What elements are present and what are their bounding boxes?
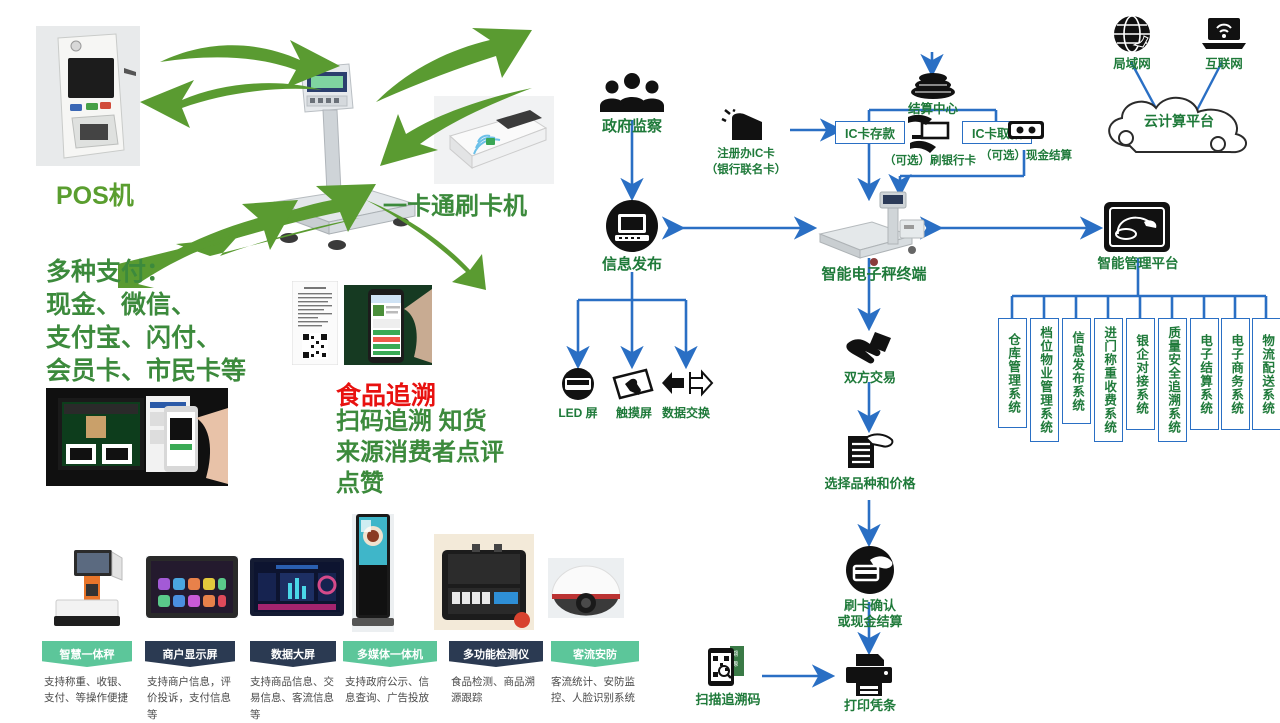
system-label-4: 银企对接系统 bbox=[1134, 334, 1147, 415]
touch-screen-icon bbox=[612, 368, 654, 400]
system-box-1[interactable]: 档位物业管理系统 bbox=[1030, 318, 1059, 442]
card-swipe-icon bbox=[846, 546, 894, 594]
cloud-platform-label: 云计算平台 bbox=[1120, 113, 1238, 130]
system-label-5: 质量安全追溯系统 bbox=[1166, 326, 1179, 434]
swipe-bank-card-label: （可选）刷银行卡 bbox=[874, 155, 986, 169]
ic-deposit-box[interactable]: IC卡存款 bbox=[835, 121, 905, 144]
card-swipe-label: 刷卡确认 或现金结算 bbox=[812, 598, 928, 629]
system-box-7[interactable]: 电子商务系统 bbox=[1221, 318, 1250, 430]
register-ic-card-label: 注册办IC卡 bbox=[700, 148, 792, 162]
cash-settlement-icon bbox=[1006, 115, 1046, 145]
smart-scale-terminal-icon bbox=[816, 192, 936, 270]
select-list-label: 选择品种和价格 bbox=[806, 476, 934, 492]
lan-label: 局域网 bbox=[1098, 57, 1166, 72]
gov-supervision-label: 政府监察 bbox=[582, 118, 682, 136]
system-label-1: 档位物业管理系统 bbox=[1038, 326, 1051, 434]
handshake-label: 双方交易 bbox=[820, 370, 920, 386]
management-platform-icon bbox=[1104, 202, 1170, 252]
cash-settlement-label: （可选）现金结算 bbox=[972, 150, 1080, 164]
internet-label: 互联网 bbox=[1190, 57, 1258, 72]
register-ic-card-sub: （银行联名卡） bbox=[698, 164, 794, 178]
system-box-4[interactable]: 银企对接系统 bbox=[1126, 318, 1155, 430]
system-box-0[interactable]: 仓库管理系统 bbox=[998, 318, 1027, 428]
ic-deposit-label: IC卡存款 bbox=[845, 123, 895, 142]
data-exchange-icon bbox=[662, 368, 712, 398]
government-people-icon bbox=[600, 72, 664, 114]
scan-trace-code-icon: 溯源 bbox=[706, 644, 750, 688]
led-screen-label: LED 屏 bbox=[548, 406, 608, 420]
swipe-bank-card-icon bbox=[906, 113, 952, 153]
internet-laptop-icon bbox=[1202, 16, 1246, 52]
select-list-icon bbox=[846, 432, 894, 470]
settlement-center-coins-icon bbox=[910, 72, 956, 100]
system-box-6[interactable]: 电子结算系统 bbox=[1190, 318, 1219, 430]
system-label-3: 进门称重收费系统 bbox=[1102, 326, 1115, 434]
printer-label: 打印凭条 bbox=[824, 698, 916, 714]
info-publish-monitor-icon bbox=[606, 200, 658, 252]
data-exchange-label: 数据交换 bbox=[652, 406, 720, 420]
management-platform-label: 智能管理平台 bbox=[1082, 256, 1194, 272]
system-box-2[interactable]: 信息发布系统 bbox=[1062, 318, 1091, 424]
system-label-2: 信息发布系统 bbox=[1070, 331, 1083, 412]
system-label-0: 仓库管理系统 bbox=[1006, 333, 1019, 414]
system-box-8[interactable]: 物流配送系统 bbox=[1252, 318, 1280, 430]
printer-icon bbox=[844, 654, 894, 696]
smart-scale-terminal-label: 智能电子秤终端 bbox=[800, 266, 948, 284]
system-label-7: 电子商务系统 bbox=[1229, 334, 1242, 415]
system-label-8: 物流配送系统 bbox=[1260, 334, 1273, 415]
lan-globe-icon bbox=[1112, 14, 1152, 54]
register-ic-card-icon bbox=[722, 110, 768, 144]
info-publish-label: 信息发布 bbox=[582, 256, 682, 274]
system-box-3[interactable]: 进门称重收费系统 bbox=[1094, 318, 1123, 442]
scan-trace-code-label: 扫描追溯码 bbox=[680, 692, 776, 708]
system-label-6: 电子结算系统 bbox=[1198, 334, 1211, 415]
led-screen-icon bbox=[558, 368, 598, 400]
handshake-icon bbox=[845, 330, 895, 366]
system-box-5[interactable]: 质量安全追溯系统 bbox=[1158, 318, 1187, 442]
